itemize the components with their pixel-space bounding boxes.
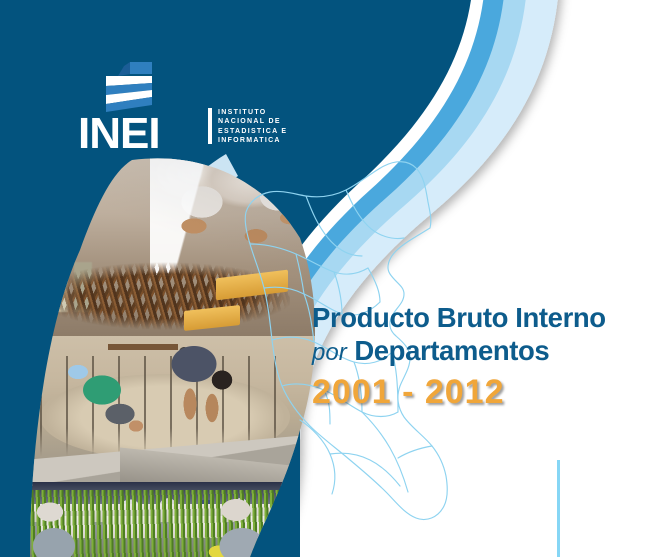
title-line-1: Producto Bruto Interno bbox=[312, 303, 642, 334]
inei-wordmark: INEI bbox=[78, 112, 160, 156]
dept-line-10 bbox=[368, 268, 380, 302]
title-por: por bbox=[312, 339, 347, 366]
inei-subtitle-line-3: ESTADISTICA E bbox=[218, 127, 306, 136]
book-cover: INEI INSTITUTO NACIONAL DE ESTADISTICA E… bbox=[0, 0, 647, 557]
dept-line-15 bbox=[362, 412, 408, 492]
dept-line-13 bbox=[346, 190, 404, 239]
title-departamentos: Departamentos bbox=[354, 335, 549, 366]
dept-line-1 bbox=[250, 244, 368, 274]
inei-subtitle: INSTITUTO NACIONAL DE ESTADISTICA E INFO… bbox=[218, 108, 306, 146]
cover-title-block: Producto Bruto Interno por Departamentos… bbox=[312, 303, 642, 412]
inei-stacked-bars-icon bbox=[100, 62, 156, 112]
dept-line-9 bbox=[296, 254, 304, 294]
inei-subtitle-line-4: INFORMATICA bbox=[218, 136, 306, 145]
dept-line-17 bbox=[330, 453, 400, 486]
dept-line-5 bbox=[300, 420, 335, 494]
accent-vertical-rule bbox=[557, 460, 560, 557]
inei-logo: INEI INSTITUTO NACIONAL DE ESTADISTICA E… bbox=[78, 62, 228, 150]
inei-subtitle-line-2: NACIONAL DE bbox=[218, 117, 306, 126]
inei-subtitle-line-1: INSTITUTO bbox=[218, 108, 306, 117]
logo-divider bbox=[208, 108, 212, 144]
title-year-range: 2001 - 2012 bbox=[312, 373, 642, 412]
dept-line-16 bbox=[398, 446, 432, 458]
title-line-2: por Departamentos bbox=[312, 335, 642, 367]
